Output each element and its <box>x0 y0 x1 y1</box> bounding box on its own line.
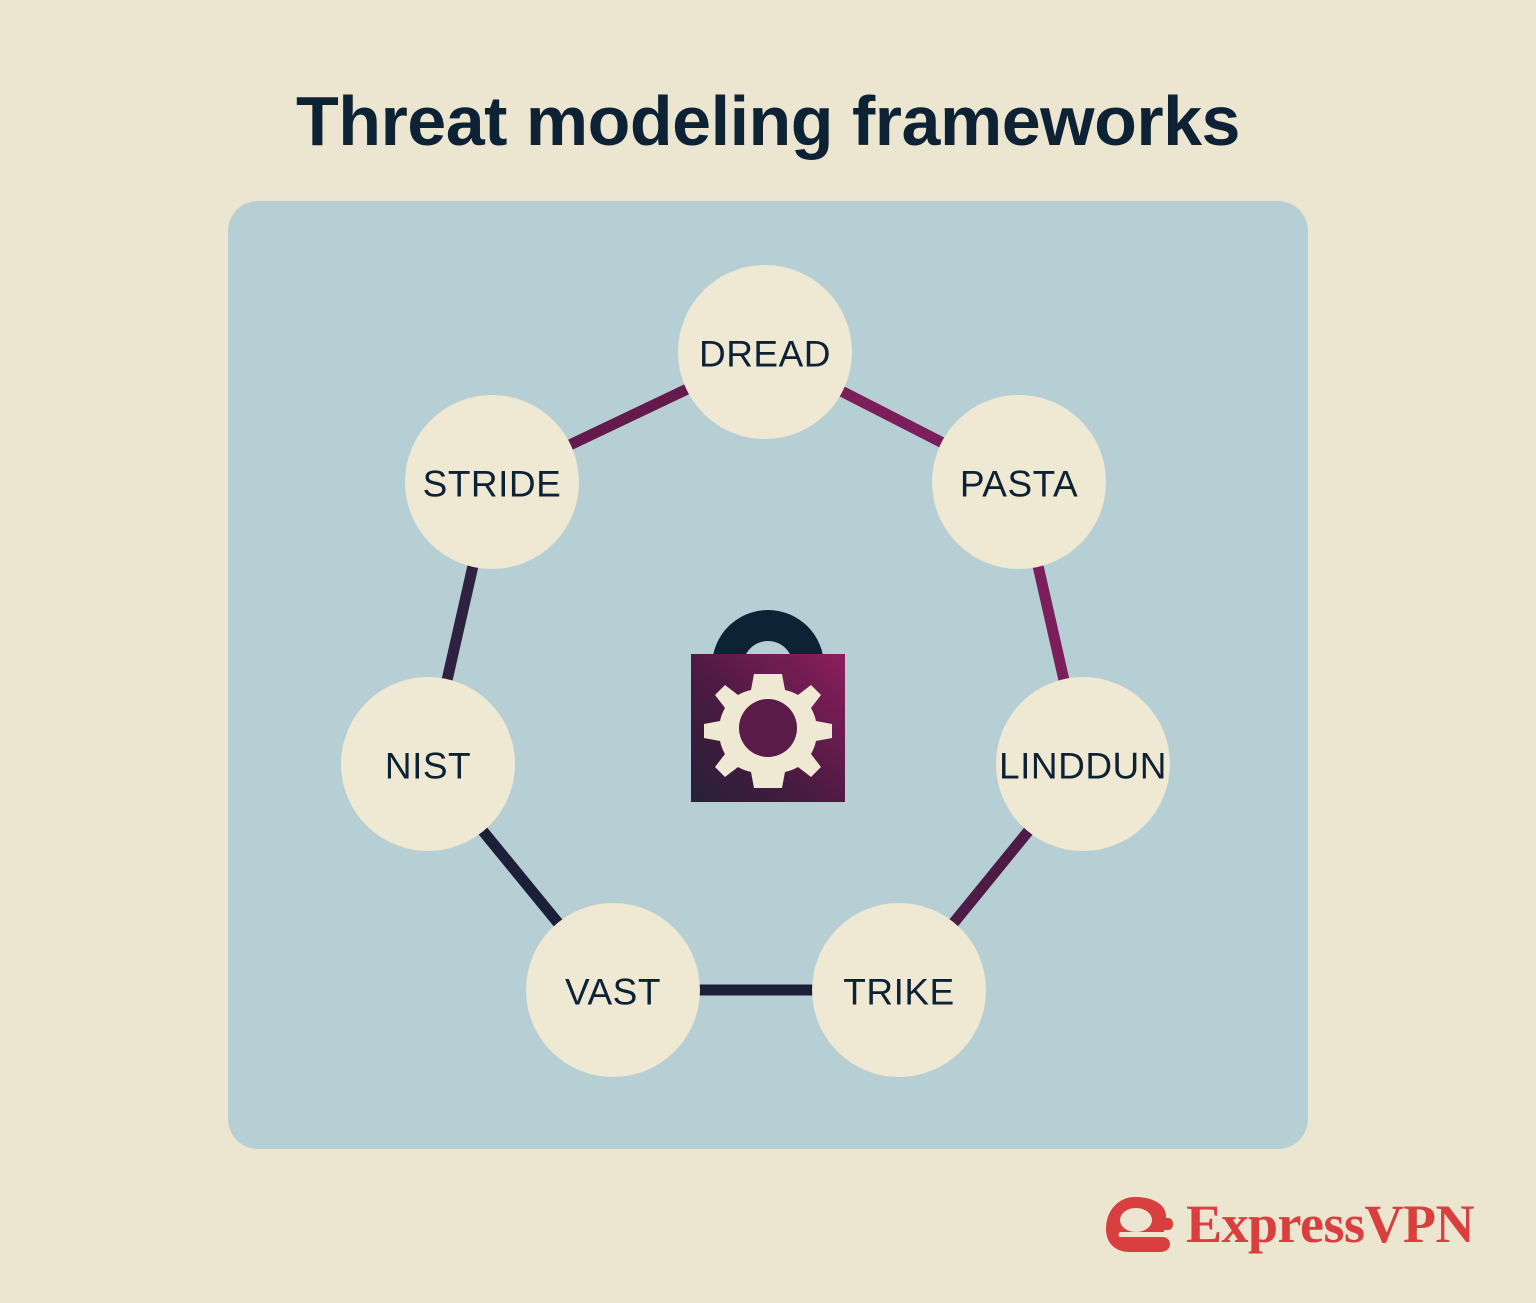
node-nist[interactable]: NIST <box>341 677 515 851</box>
expressvpn-logo: ExpressVPN <box>1104 1192 1410 1260</box>
node-vast[interactable]: VAST <box>526 903 700 1077</box>
node-trike[interactable]: TRIKE <box>812 903 986 1077</box>
node-label: PASTA <box>960 464 1078 505</box>
gear-hole <box>739 699 797 757</box>
diagram-panel: DREAD PASTA LINDDUN TRIKE VAST NIST <box>228 201 1308 1149</box>
node-label: TRIKE <box>843 972 954 1013</box>
infographic-canvas: Threat modeling frameworks <box>0 0 1536 1303</box>
node-linddun[interactable]: LINDDUN <box>996 677 1170 851</box>
node-label: LINDDUN <box>999 746 1167 787</box>
node-pasta[interactable]: PASTA <box>932 395 1106 569</box>
node-label: NIST <box>385 746 471 787</box>
node-label: STRIDE <box>423 464 562 505</box>
page-title: Threat modeling frameworks <box>0 86 1536 156</box>
threat-framework-ring-diagram: DREAD PASTA LINDDUN TRIKE VAST NIST <box>228 201 1308 1149</box>
node-dread[interactable]: DREAD <box>678 265 852 439</box>
expressvpn-wordmark: ExpressVPN <box>1186 1192 1474 1256</box>
node-stride[interactable]: STRIDE <box>405 395 579 569</box>
expressvpn-e-icon <box>1104 1194 1174 1256</box>
padlock-gear-icon <box>691 610 845 802</box>
node-label: VAST <box>565 972 661 1013</box>
node-label: DREAD <box>699 334 831 375</box>
